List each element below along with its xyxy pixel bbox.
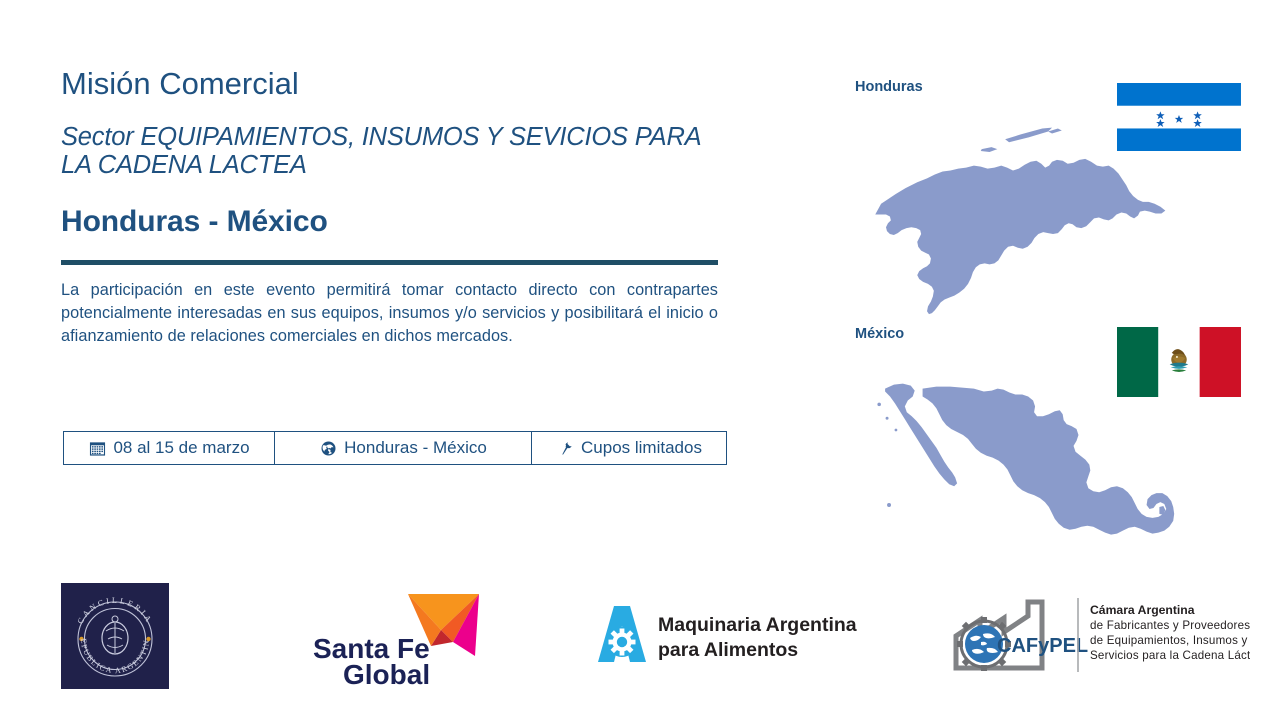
country-block-honduras: Honduras: [855, 80, 1255, 320]
sector-subtitle: Sector EQUIPAMIENTOS, INSUMOS Y SEVICIOS…: [61, 123, 721, 181]
maquinaria-argentina-logo: Maquinaria Argentina para Alimentos: [586, 604, 861, 666]
info-item-quota-label: Cupos limitados: [581, 439, 702, 457]
country-block-mexico: México: [855, 327, 1255, 577]
cafypel-wordmark: CAFyPEL: [997, 635, 1088, 657]
horizontal-divider: [61, 260, 718, 265]
info-item-location[interactable]: Honduras - México: [274, 431, 532, 465]
country-label-mexico: México: [855, 327, 904, 342]
cafypel-desc-line2: de Equipamientos, Insumos y: [1090, 634, 1248, 647]
pushpin-icon: [556, 439, 574, 457]
santa-fe-global-logo: Santa Fe Global: [303, 586, 483, 686]
page-title: Misión Comercial: [61, 68, 721, 101]
santa-fe-global-line2: Global: [343, 659, 430, 686]
info-item-date[interactable]: 08 al 15 de marzo: [63, 431, 275, 465]
sector-name-label: EQUIPAMIENTOS, INSUMOS Y SEVICIOS PARA L…: [61, 123, 701, 180]
info-item-location-label: Honduras - México: [344, 439, 487, 457]
description-paragraph: La participación en este evento permitir…: [61, 279, 718, 348]
cafypel-desc-line3: Servicios para la Cadena Láctea: [1090, 649, 1250, 662]
globe-icon: [319, 439, 337, 457]
cafypel-desc-line1: de Fabricantes y Proveedores: [1090, 619, 1250, 632]
maquinaria-a-gear-icon: [598, 606, 646, 662]
cafypel-logo: CAFyPEL Cámara Argentina de Fabricantes …: [950, 596, 1250, 674]
info-item-quota[interactable]: Cupos limitados: [531, 431, 727, 465]
mexico-map: [865, 359, 1215, 581]
info-bar: 08 al 15 de marzo Honduras - México: [63, 431, 727, 465]
countries-title: Honduras - México: [61, 206, 721, 238]
cancilleria-argentina-logo: CANCILLERIA REPUBLICA ARGENTINA: [61, 583, 169, 689]
honduras-map: [855, 110, 1210, 320]
calendar-icon: [88, 439, 106, 457]
maquinaria-line1: Maquinaria Argentina: [658, 614, 857, 636]
left-content-column: Misión Comercial Sector EQUIPAMIENTOS, I…: [61, 68, 721, 348]
cafypel-title: Cámara Argentina: [1090, 603, 1195, 617]
sponsor-logo-strip: CANCILLERIA REPUBLICA ARGENTINA: [0, 578, 1280, 698]
country-label-honduras: Honduras: [855, 80, 923, 95]
slide-canvas: Misión Comercial Sector EQUIPAMIENTOS, I…: [0, 0, 1280, 720]
info-item-date-label: 08 al 15 de marzo: [113, 439, 249, 457]
maquinaria-line2: para Alimentos: [658, 639, 798, 661]
sector-prefix-label: Sector: [61, 123, 140, 151]
